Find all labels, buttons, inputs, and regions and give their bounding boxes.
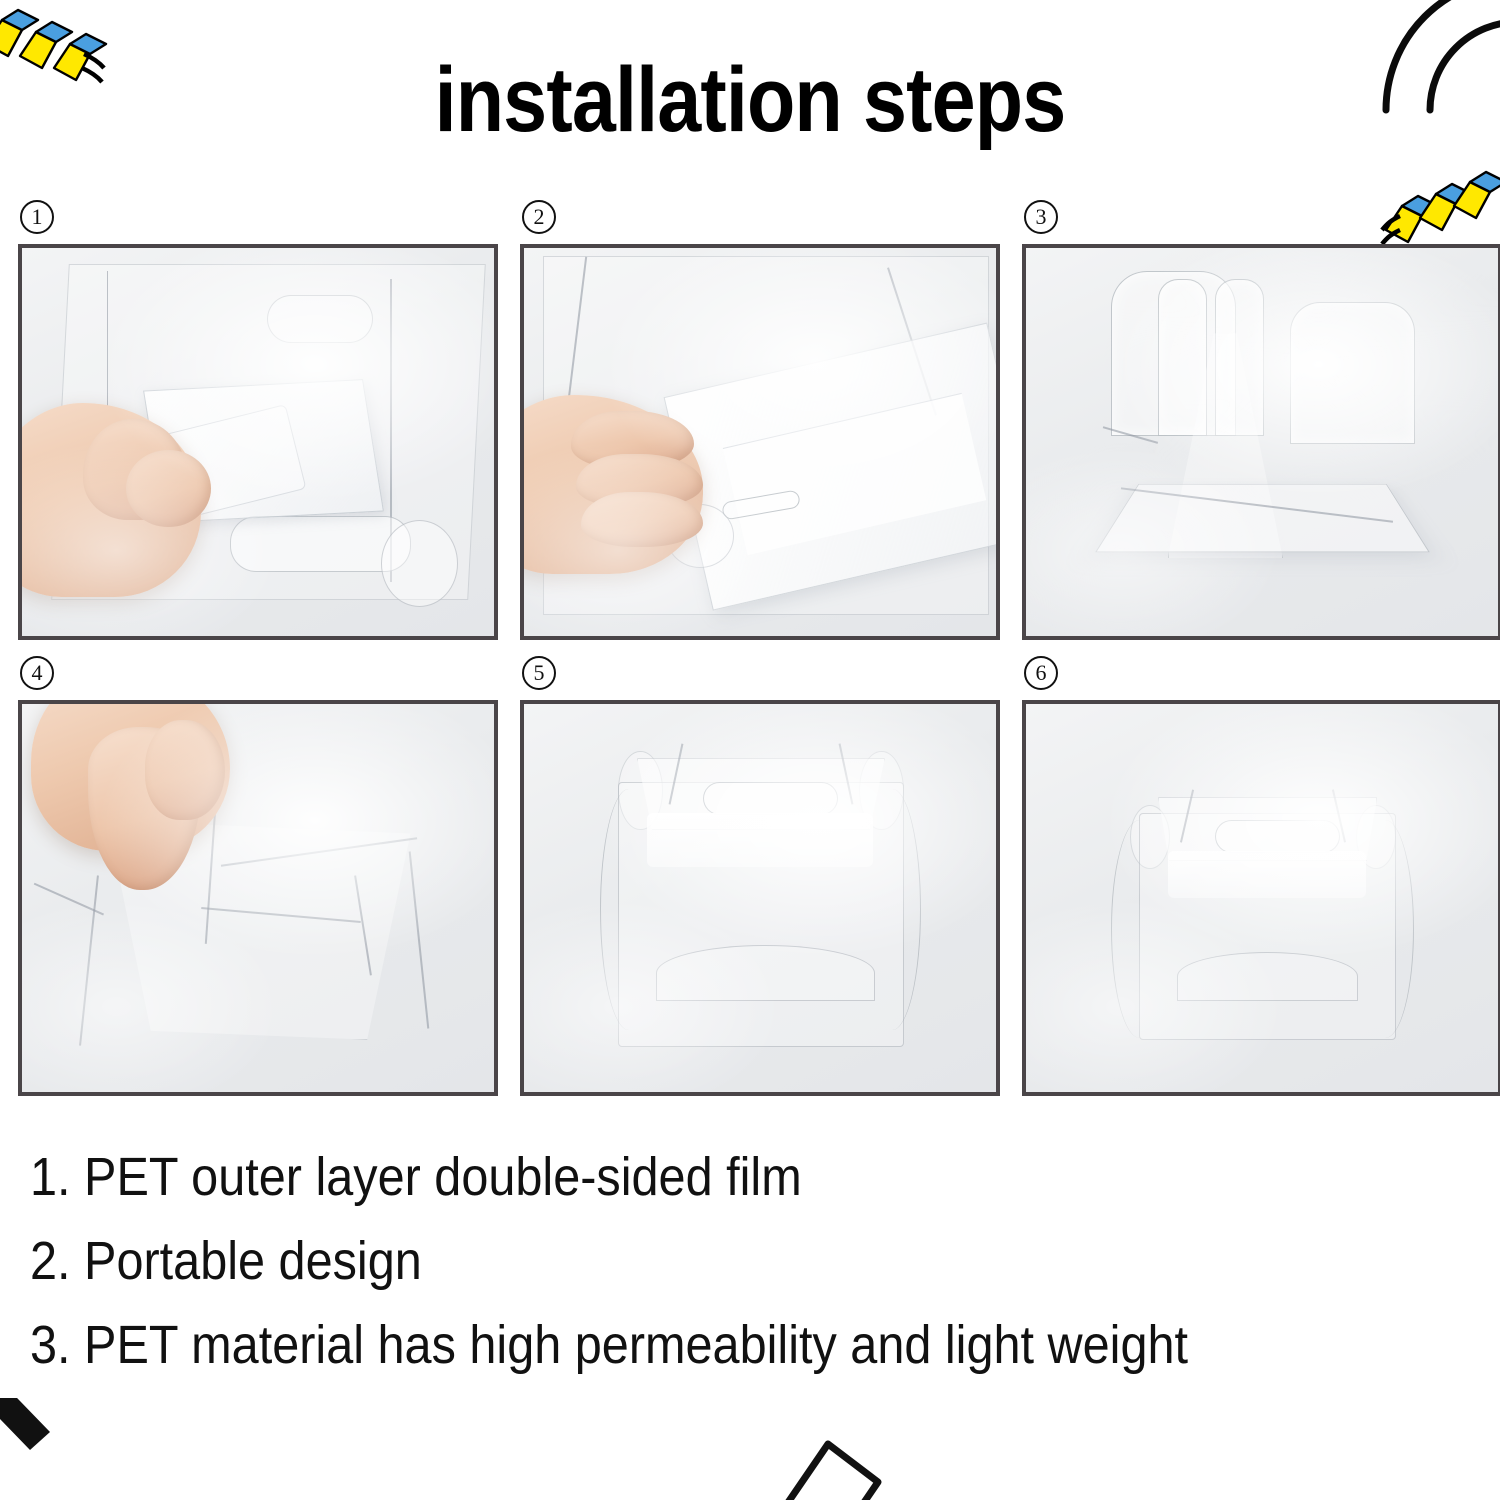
feature-list: 1. PET outer layer double-sided film 2. … [30, 1150, 1430, 1402]
installation-steps-grid: 1 [18, 200, 1482, 1096]
step-badge-1: 1 [20, 200, 54, 234]
step-cell-2: 2 [520, 200, 1000, 640]
page-title: installation steps [105, 52, 1395, 149]
step-badge-6: 6 [1024, 656, 1058, 690]
step-badge-5: 5 [522, 656, 556, 690]
step-photo-6 [1022, 700, 1500, 1096]
step-cell-1: 1 [18, 200, 498, 640]
step-cell-6: 6 [1022, 656, 1500, 1096]
infographic-page: installation steps 1 [0, 0, 1500, 1500]
feature-item-2: 2. Portable design [30, 1234, 1290, 1288]
step-photo-3 [1022, 244, 1500, 640]
step-cell-4: 4 [18, 656, 498, 1096]
step-badge-4: 4 [20, 656, 54, 690]
step-badge-3: 3 [1024, 200, 1058, 234]
step-cell-3: 3 [1022, 200, 1500, 640]
feature-item-1: 1. PET outer layer double-sided film [30, 1150, 1290, 1204]
diagonal-bar-icon [0, 1398, 104, 1498]
step-cell-5: 5 [520, 656, 1000, 1096]
step-photo-1 [18, 244, 498, 640]
step-badge-2: 2 [522, 200, 556, 234]
step-photo-5 [520, 700, 1000, 1096]
step-photo-2 [520, 244, 1000, 640]
diamond-outline-icon [770, 1424, 890, 1500]
zigzag-top-left-icon [0, 8, 112, 88]
feature-item-3: 3. PET material has high permeability an… [30, 1318, 1290, 1372]
step-photo-4 [18, 700, 498, 1096]
